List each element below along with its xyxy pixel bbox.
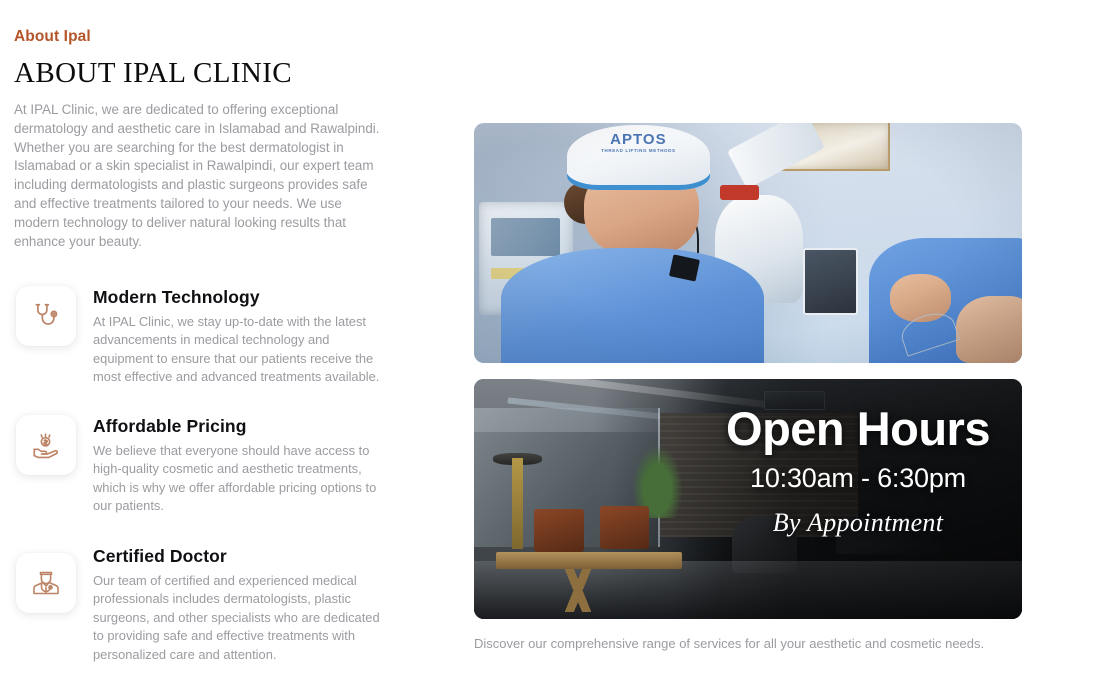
doctor-icon bbox=[31, 568, 61, 598]
feature-icon-card bbox=[16, 415, 76, 475]
open-hours-overlay: Open Hours 10:30am - 6:30pm By Appointme… bbox=[708, 405, 1008, 538]
clinic-procedure-photo[interactable]: APTOS THREAD LIFTING METHODS bbox=[474, 123, 1022, 363]
feature-description: At IPAL Clinic, we stay up-to-date with … bbox=[93, 313, 383, 387]
photo-vignette bbox=[474, 123, 1022, 363]
open-hours-note: By Appointment bbox=[708, 508, 1008, 538]
feature-description: We believe that everyone should have acc… bbox=[93, 442, 383, 516]
feature-icon-card bbox=[16, 286, 76, 346]
media-caption: Discover our comprehensive range of serv… bbox=[474, 634, 1022, 653]
hand-holding-coin-icon bbox=[31, 430, 61, 460]
about-text-column: About Ipal ABOUT IPAL CLINIC At IPAL Cli… bbox=[14, 0, 434, 695]
feature-body: Modern Technology At IPAL Clinic, we sta… bbox=[93, 286, 403, 387]
feature-body: Affordable Pricing We believe that every… bbox=[93, 415, 403, 516]
page-title: ABOUT IPAL CLINIC bbox=[14, 57, 292, 90]
open-hours-title: Open Hours bbox=[708, 405, 1008, 453]
feature-title: Modern Technology bbox=[93, 286, 403, 308]
feature-body: Certified Doctor Our team of certified a… bbox=[93, 545, 403, 664]
stethoscope-icon bbox=[31, 301, 61, 331]
feature-icon-card bbox=[16, 553, 76, 613]
feature-description: Our team of certified and experienced me… bbox=[93, 572, 383, 664]
feature-title: Certified Doctor bbox=[93, 545, 403, 567]
open-hours-time: 10:30am - 6:30pm bbox=[708, 463, 1008, 494]
open-hours-photo[interactable]: Open Hours 10:30am - 6:30pm By Appointme… bbox=[474, 379, 1022, 619]
about-intro-paragraph: At IPAL Clinic, we are dedicated to offe… bbox=[14, 101, 384, 251]
about-section: About Ipal ABOUT IPAL CLINIC At IPAL Cli… bbox=[0, 0, 1100, 695]
feature-title: Affordable Pricing bbox=[93, 415, 403, 437]
section-eyebrow: About Ipal bbox=[14, 28, 91, 46]
